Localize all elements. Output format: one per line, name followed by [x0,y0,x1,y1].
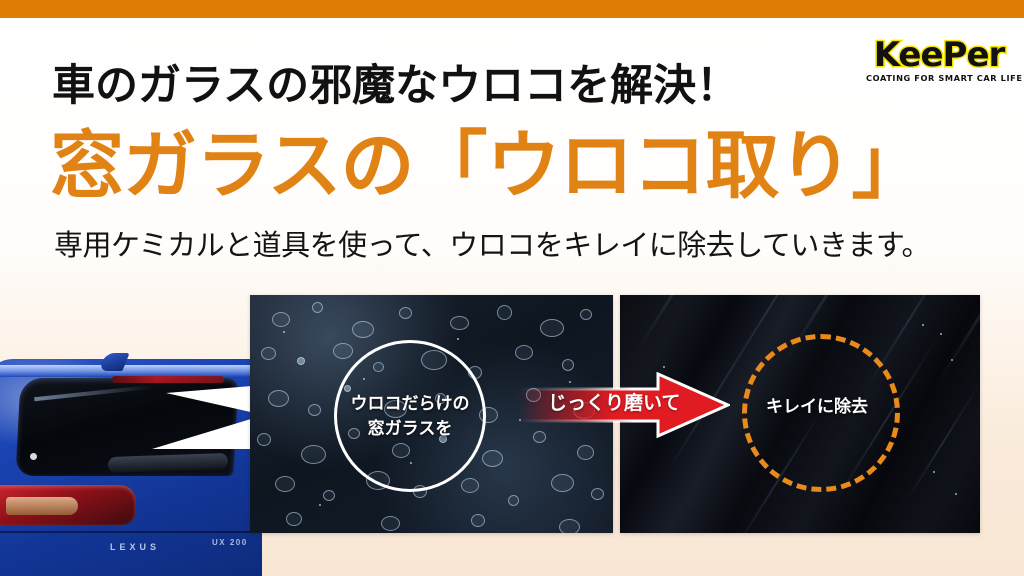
arrow-label: じっくり磨いて [548,388,680,415]
car-brand-badge: LEXUS [110,542,160,552]
after-caption-text: キレイに除去 [744,392,890,417]
lead-paragraph: 専用ケミカルと道具を使って、ウロコをキレイに除去していきます。 [54,228,930,264]
car-photo: LEXUS UX 200 [0,345,262,576]
before-caption-line2: 窓ガラスを [368,419,453,438]
logo-wordmark: KeePer [866,38,1012,72]
page-title: 窓ガラスの「ウロコ取り」 [50,125,925,207]
car-trunk-seam [0,531,262,533]
car-brake-light [112,376,224,383]
kicker-heading: 車のガラスの邪魔なウロコを解決！ [52,62,739,110]
car-tail-light-inner [6,497,78,515]
keeper-logo: KeePer COATING FOR SMART CAR LIFE [866,38,1012,88]
before-caption-text: ウロコだらけの 窓ガラスを [351,391,470,441]
slide-root: KeePer COATING FOR SMART CAR LIFE 車のガラスの… [0,0,1024,576]
car-highlight-dot [30,453,37,460]
car-model-badge: UX 200 [212,538,248,547]
top-accent-bar [0,0,1024,18]
before-caption-line1: ウロコだらけの [351,394,470,413]
before-caption-circle: ウロコだらけの 窓ガラスを [334,340,486,492]
